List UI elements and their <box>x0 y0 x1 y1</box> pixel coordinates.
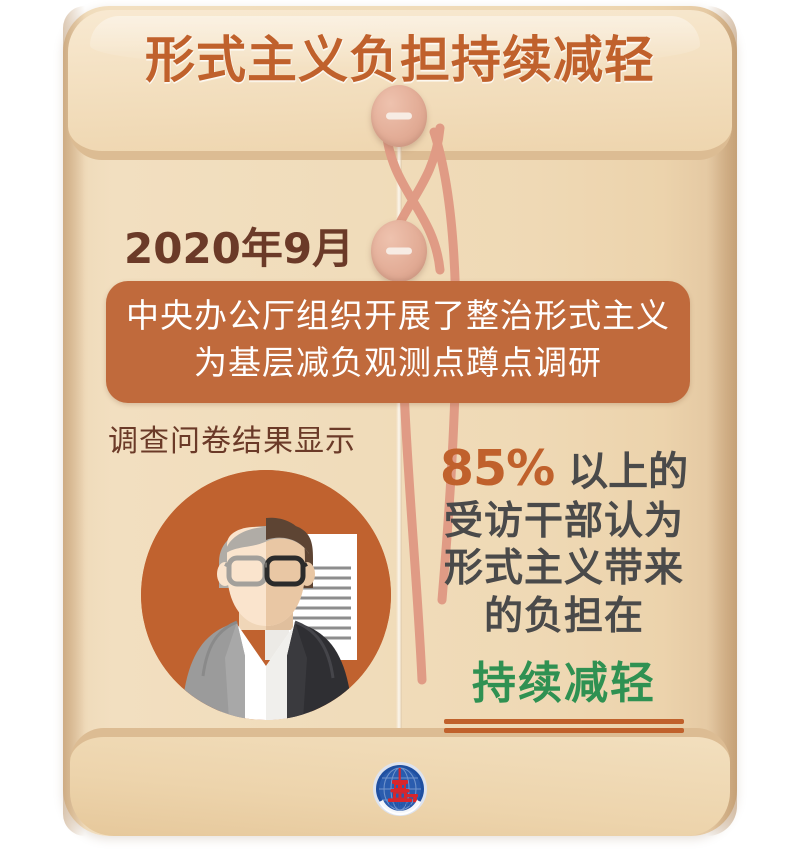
stat-percent-value: 85% <box>440 440 554 497</box>
highlight-underline-top <box>444 719 684 724</box>
stat-column: 85% 以上的 受访干部认为 形式主义带来 的负担在 持续减轻 <box>414 440 714 733</box>
date-label: 2020年9月 <box>124 215 354 276</box>
stat-line-2: 受访干部认为 <box>414 498 714 546</box>
infographic-poster: 形式主义负担持续减轻 2020年9月 中央办公厅组织开展了整治形式主义为基层减负… <box>0 0 800 860</box>
stat-headline: 85% 以上的 <box>414 440 714 498</box>
envelope-clasp-top[interactable] <box>371 85 427 147</box>
stat-line-3: 形式主义带来 <box>414 545 714 593</box>
xinhua-logo-icon: XINHUA <box>372 761 428 817</box>
statement-box: 中央办公厅组织开展了整治形式主义为基层减负观测点蹲点调研 <box>106 281 690 403</box>
envelope-clasp-bottom[interactable] <box>371 220 427 282</box>
avatar <box>141 470 391 720</box>
page-title: 形式主义负担持续减轻 <box>0 20 800 92</box>
stat-line-4: 的负担在 <box>414 593 714 641</box>
stat-highlight: 持续减轻 <box>414 647 714 711</box>
survey-result-label: 调查问卷结果显示 <box>108 416 356 460</box>
stat-percent-suffix: 以上的 <box>568 449 688 495</box>
official-portrait-icon <box>141 470 391 720</box>
logo-wordmark: XINHUA <box>388 803 412 809</box>
envelope-crease <box>396 108 402 748</box>
highlight-underline-bottom <box>444 728 684 733</box>
